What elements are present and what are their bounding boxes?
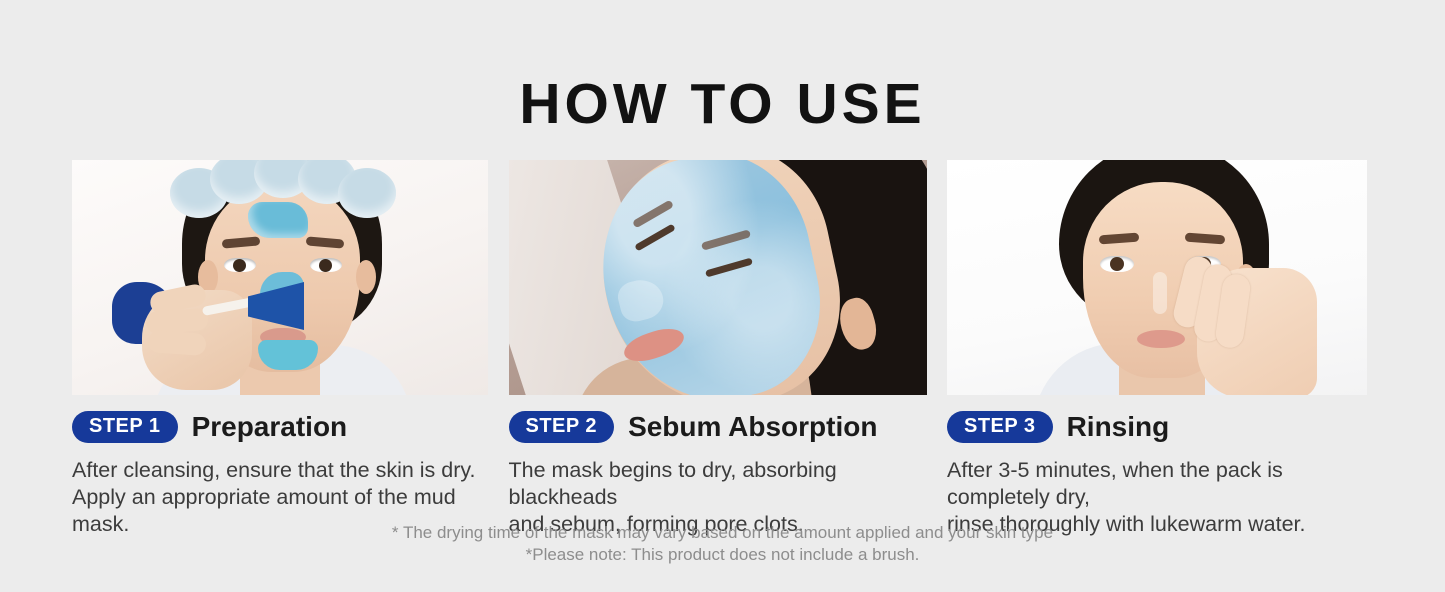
step-1-image bbox=[72, 160, 488, 395]
lips-shape bbox=[1137, 330, 1185, 348]
footnote-no-brush: *Please note: This product does not incl… bbox=[0, 544, 1445, 566]
step-1-title: Preparation bbox=[192, 411, 348, 443]
eye-right-shape bbox=[310, 258, 342, 272]
nose-highlight-shape bbox=[1153, 272, 1167, 314]
step-1-header: STEP 1 Preparation bbox=[72, 411, 488, 443]
finger-shape bbox=[147, 330, 206, 356]
step-2-image bbox=[509, 160, 927, 395]
step-3-image bbox=[947, 160, 1367, 395]
spa-headband-shape bbox=[168, 160, 396, 212]
eye-left-shape bbox=[224, 258, 256, 272]
step-card-2: STEP 2 Sebum Absorption The mask begins … bbox=[509, 160, 927, 538]
step-2-header: STEP 2 Sebum Absorption bbox=[509, 411, 927, 443]
eye-left-shape bbox=[1100, 256, 1134, 272]
steps-row: STEP 1 Preparation After cleansing, ensu… bbox=[72, 160, 1367, 538]
step-3-title: Rinsing bbox=[1067, 411, 1170, 443]
step-2-badge: STEP 2 bbox=[509, 411, 615, 443]
step-3-badge: STEP 3 bbox=[947, 411, 1053, 443]
step-card-1: STEP 1 Preparation After cleansing, ensu… bbox=[72, 160, 488, 538]
ear-right-shape bbox=[356, 260, 376, 294]
footnote-drying-time: * The drying time of the mask may vary b… bbox=[0, 522, 1445, 544]
step-3-header: STEP 3 Rinsing bbox=[947, 411, 1367, 443]
mud-patch-chin bbox=[258, 340, 318, 370]
step-card-3: STEP 3 Rinsing After 3-5 minutes, when t… bbox=[947, 160, 1367, 538]
how-to-use-section: HOW TO USE bbox=[0, 0, 1445, 592]
step-2-title: Sebum Absorption bbox=[628, 411, 877, 443]
footnotes: * The drying time of the mask may vary b… bbox=[0, 522, 1445, 566]
page-title: HOW TO USE bbox=[0, 76, 1445, 133]
step-1-badge: STEP 1 bbox=[72, 411, 178, 443]
